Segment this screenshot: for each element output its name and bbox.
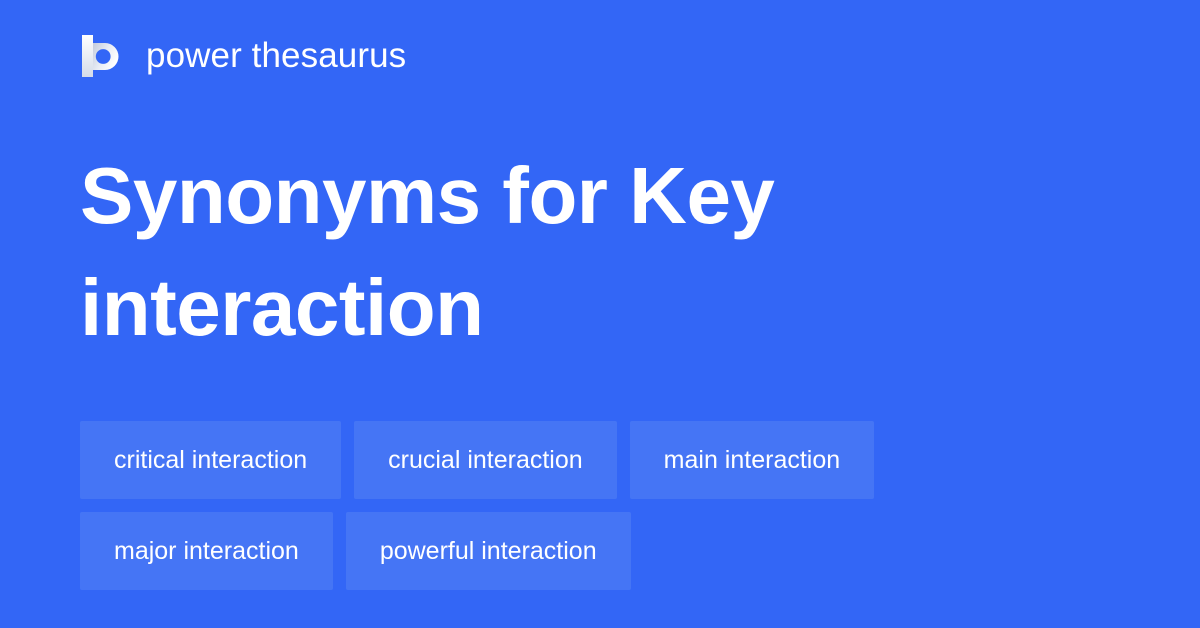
brand-logo[interactable]: power thesaurus xyxy=(80,28,406,84)
synonym-chip[interactable]: major interaction xyxy=(80,512,333,590)
brand-name: power thesaurus xyxy=(146,36,406,76)
synonym-chip[interactable]: critical interaction xyxy=(80,421,341,499)
share-card: power thesaurus Synonyms for Key interac… xyxy=(0,0,1200,628)
page-title: Synonyms for Key interaction xyxy=(80,140,1080,364)
power-thesaurus-b-logo-icon xyxy=(80,34,124,78)
synonym-chip[interactable]: powerful interaction xyxy=(346,512,631,590)
page-title-line-1: Synonyms for Key xyxy=(80,140,1080,252)
synonym-chip-list: critical interaction crucial interaction… xyxy=(80,421,1120,590)
page-title-line-2: interaction xyxy=(80,252,1080,364)
synonym-chip[interactable]: main interaction xyxy=(630,421,874,499)
synonym-chip[interactable]: crucial interaction xyxy=(354,421,617,499)
